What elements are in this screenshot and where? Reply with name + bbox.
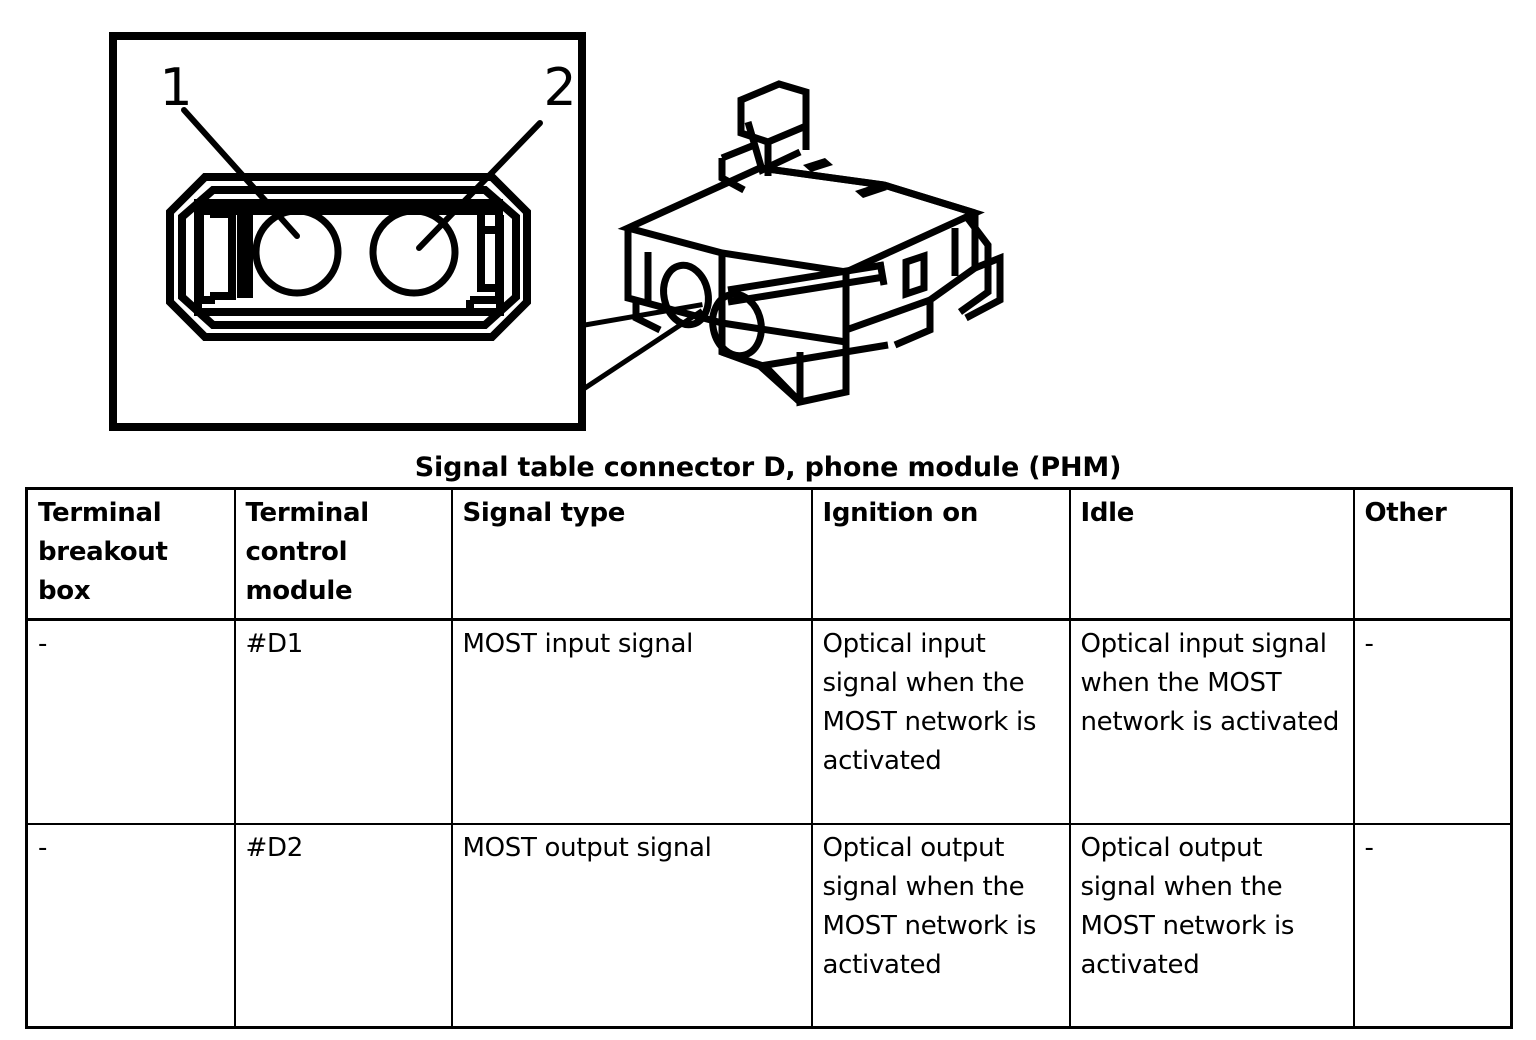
cell-terminal-breakout-box: - xyxy=(27,824,235,1028)
table-header-row: Terminal breakout box Terminal control m… xyxy=(27,489,1512,620)
cell-ignition-on: Optical output signal when the MOST netw… xyxy=(812,824,1070,1028)
connector-left-keying-ribs xyxy=(200,205,249,300)
cell-ignition-on: Optical input signal when the MOST netwo… xyxy=(812,620,1070,824)
table-row: - #D2 MOST output signal Optical output … xyxy=(27,824,1512,1028)
callout-label-1: 1 xyxy=(159,58,192,118)
column-header-idle: Idle xyxy=(1070,489,1354,620)
connector-right-notch xyxy=(470,207,499,312)
cell-idle: Optical input signal when the MOST netwo… xyxy=(1070,620,1354,824)
cell-idle: Optical output signal when the MOST netw… xyxy=(1070,824,1354,1028)
cell-terminal-control-module: #D1 xyxy=(235,620,452,824)
column-header-signal-type: Signal type xyxy=(452,489,812,620)
connector-3d-perspective-view xyxy=(628,84,1000,402)
cell-signal-type: MOST output signal xyxy=(452,824,812,1028)
table-row: - #D1 MOST input signal Optical input si… xyxy=(27,620,1512,824)
signal-table: Terminal breakout box Terminal control m… xyxy=(25,487,1513,1029)
column-header-terminal-control-module: Terminal control module xyxy=(235,489,452,620)
cell-other: - xyxy=(1354,620,1512,824)
callout-label-2: 2 xyxy=(543,58,576,118)
column-header-other: Other xyxy=(1354,489,1512,620)
column-header-ignition-on: Ignition on xyxy=(812,489,1070,620)
cell-terminal-breakout-box: - xyxy=(27,620,235,824)
cell-terminal-control-module: #D2 xyxy=(235,824,452,1028)
terminal-opening-1 xyxy=(256,211,338,293)
connector-illustration: 1 2 xyxy=(0,0,1536,450)
cell-other: - xyxy=(1354,824,1512,1028)
column-header-terminal-breakout-box: Terminal breakout box xyxy=(27,489,235,620)
signal-table-title: Signal table connector D, phone module (… xyxy=(0,452,1536,484)
cell-signal-type: MOST input signal xyxy=(452,620,812,824)
